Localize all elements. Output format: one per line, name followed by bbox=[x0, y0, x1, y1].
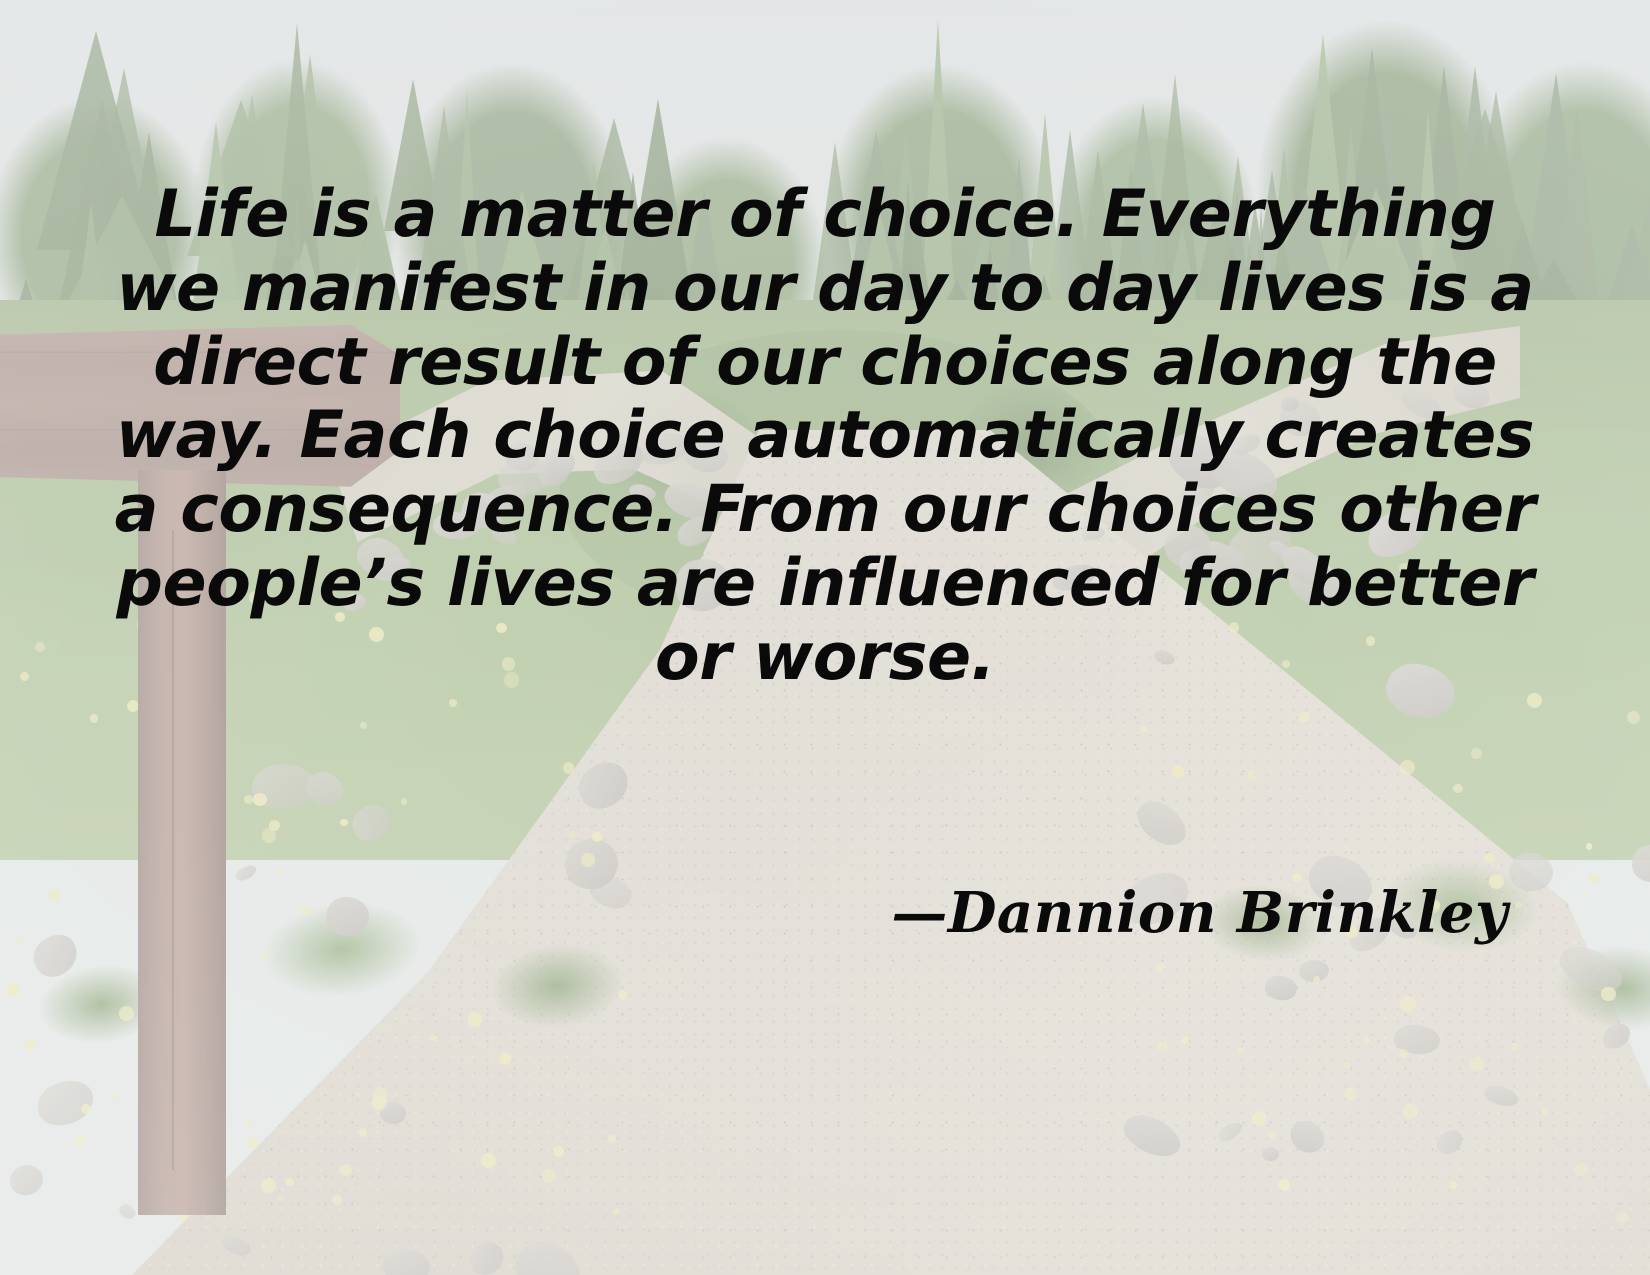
text-content: Life is a matter of choice. Everything w… bbox=[0, 0, 1650, 1275]
quote-attribution: —Dannion Brinkley bbox=[0, 880, 1508, 946]
quote-poster: Life is a matter of choice. Everything w… bbox=[0, 0, 1650, 1275]
quote-text: Life is a matter of choice. Everything w… bbox=[80, 178, 1570, 694]
